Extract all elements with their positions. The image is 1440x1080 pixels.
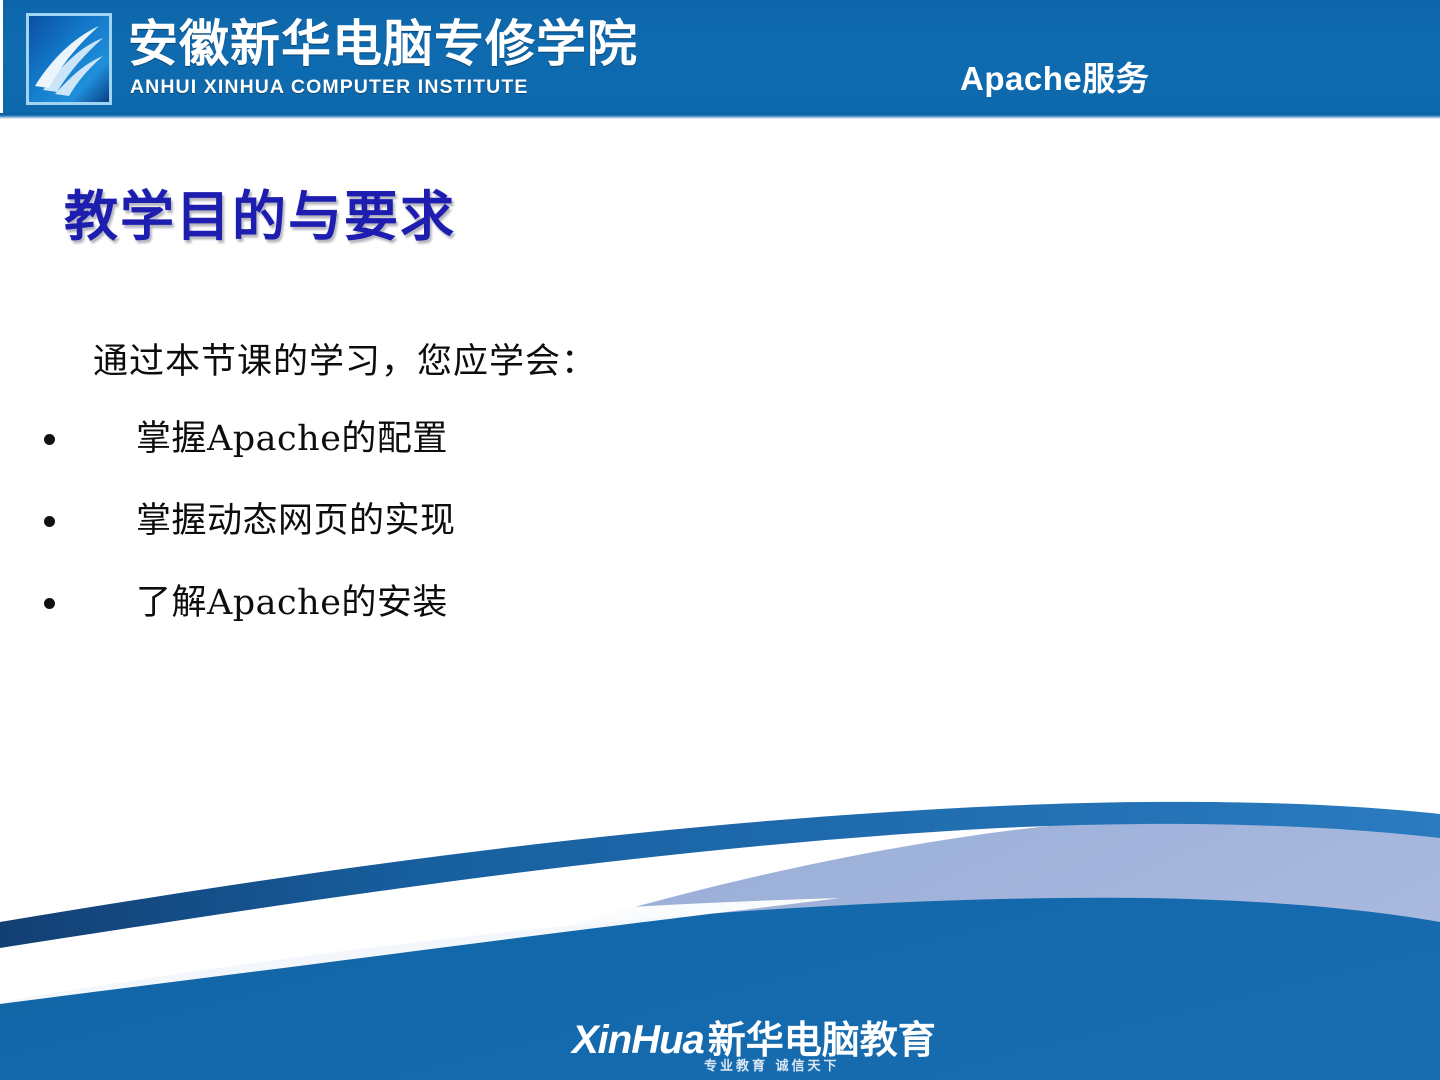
list-item-label: 了解Apache的安装 bbox=[136, 579, 448, 627]
list-item: 掌握Apache的配置 bbox=[40, 415, 940, 497]
header-left-edge bbox=[0, 0, 3, 118]
header-underline bbox=[0, 113, 1440, 119]
slide-title: 教学目的与要求 bbox=[64, 172, 456, 251]
presentation-slide: 安徽新华电脑专修学院 ANHUI XINHUA COMPUTER INSTITU… bbox=[0, 0, 1440, 1080]
bullet-dot-icon bbox=[44, 434, 55, 445]
slide-header: 安徽新华电脑专修学院 ANHUI XINHUA COMPUTER INSTITU… bbox=[0, 0, 1440, 118]
institute-name-cn: 安徽新华电脑专修学院 bbox=[128, 16, 638, 72]
footer-brand-logo: XinHua新华电脑教育 专业教育 诚信天下 bbox=[572, 1009, 972, 1071]
institute-logo-icon bbox=[26, 13, 112, 105]
institute-name-en: ANHUI XINHUA COMPUTER INSTITUTE bbox=[130, 76, 528, 99]
footer-tagline: 专业教育 诚信天下 bbox=[704, 1055, 840, 1074]
objectives-list: 掌握Apache的配置 掌握动态网页的实现 了解Apache的安装 bbox=[40, 415, 940, 661]
lead-paragraph: 通过本节课的学习，您应学会： bbox=[93, 333, 597, 384]
list-item: 了解Apache的安装 bbox=[40, 579, 940, 661]
bullet-dot-icon bbox=[44, 516, 55, 527]
bullet-dot-icon bbox=[44, 598, 55, 609]
list-item: 掌握动态网页的实现 bbox=[40, 497, 940, 579]
list-item-label: 掌握Apache的配置 bbox=[136, 415, 448, 463]
topic-title: Apache服务 bbox=[960, 52, 1149, 100]
footer-brand-latin: XinHua bbox=[572, 1018, 704, 1062]
institute-logo-text: 安徽新华电脑专修学院 ANHUI XINHUA COMPUTER INSTITU… bbox=[128, 16, 628, 104]
list-item-label: 掌握动态网页的实现 bbox=[136, 497, 456, 545]
